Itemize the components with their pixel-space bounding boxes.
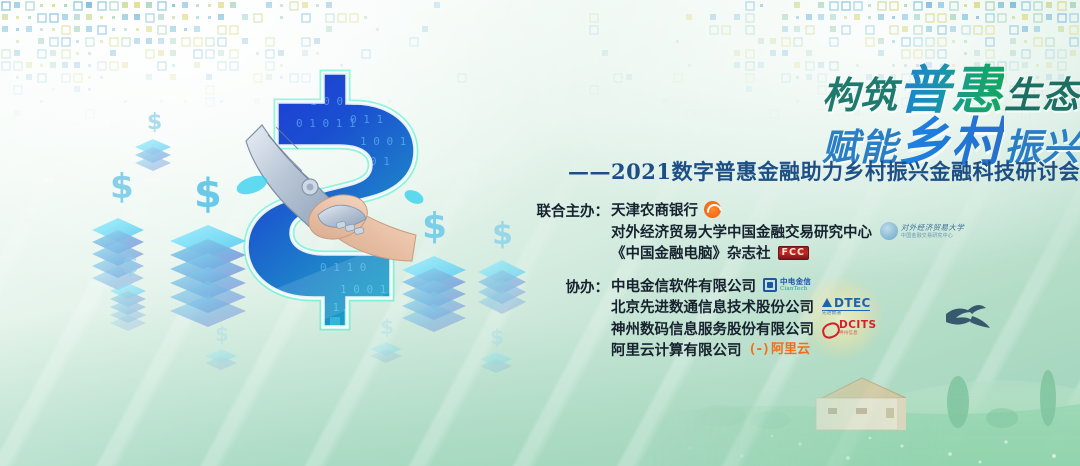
hero-graphic: $ $ $: [80, 55, 540, 420]
org-name-tianjin-bank: 天津农商银行: [611, 199, 698, 220]
org-name-dtec: 北京先进数通信息技术股份公司: [611, 296, 814, 317]
svg-text:0 1 0 1 1: 0 1 0 1 1: [296, 117, 356, 130]
credit-line: 神州数码信息服务股份有限公司 DCITS 神州信息: [611, 318, 950, 340]
fcc-logo: FCC: [778, 246, 809, 260]
dtec-triangle-icon: [822, 298, 832, 307]
svg-text:$: $: [147, 110, 162, 135]
uibe-crest-icon: [880, 222, 898, 240]
org-name-ciantech: 中电金信软件有限公司: [611, 275, 756, 296]
fcc-logo-text: FCC: [782, 248, 805, 258]
credit-line: 对外经济贸易大学中国金融交易研究中心 对外经济贸易大学 中国金融交易研究中心: [611, 221, 964, 243]
aliyun-bracket-icon: (-): [749, 343, 769, 356]
dcits-logo-text: DCITS 神州信息: [839, 320, 877, 337]
credit-line: 《中国金融电脑》杂志社 FCC: [611, 242, 964, 264]
svg-text:1 0 1 0: 1 0 1 0: [352, 317, 398, 330]
event-banner: $ $ $: [0, 0, 1080, 466]
org-name-dcits: 神州数码信息服务股份有限公司: [611, 318, 814, 339]
credit-label-coorganizers: 协办：: [530, 275, 609, 297]
dtec-logo: DTEC 先进数通: [822, 297, 871, 318]
credit-line: 北京先进数通信息技术股份公司 DTEC 先进数通: [611, 296, 950, 318]
credits-block: 联合主办： 天津农商银行 对外经济贸易大学中国金融交易研究中心 对外经济贸易大学…: [530, 199, 950, 372]
event-subtitle: ——2021数字普惠金融助力乡村振兴金融科技研讨会: [520, 156, 1080, 186]
dollar-sign-graphic: 1 0 0 10 1 1 0 1 0 1 11 0 0 1 1 1 00 1 0…: [210, 65, 460, 375]
ciantech-logo-cn: 中电金信: [780, 278, 811, 286]
credit-line: 天津农商银行: [611, 199, 964, 221]
org-name-fcc-magazine: 《中国金融电脑》杂志社: [611, 242, 771, 263]
uibe-logo-text: 对外经济贸易大学 中国金融交易研究中心: [901, 224, 964, 239]
bank-swirl-icon: [704, 201, 721, 218]
dcits-swirl-icon: [822, 322, 837, 335]
svg-text:$: $: [490, 325, 504, 349]
swallow-bird: [946, 305, 990, 328]
credit-line: 中电金信软件有限公司 中电金信 CianTech: [611, 275, 950, 297]
dcits-logo: DCITS 神州信息: [822, 320, 877, 337]
dtec-logo-sub: 先进数通: [822, 311, 841, 317]
svg-text:$: $: [110, 167, 134, 207]
uibe-logo: 对外经济贸易大学 中国金融交易研究中心: [880, 222, 964, 240]
aliyun-logo: (-) 阿里云: [749, 343, 811, 357]
dtec-logo-text: DTEC: [834, 297, 871, 309]
org-name-aliyun: 阿里云计算有限公司: [611, 339, 742, 360]
org-name-uibe-center: 对外经济贸易大学中国金融交易研究中心: [611, 221, 872, 242]
svg-text:1 0 0 1: 1 0 0 1: [360, 135, 406, 148]
ciantech-square-icon: [763, 278, 777, 292]
dollar-svg: 1 0 0 10 1 1 0 1 0 1 11 0 0 1 1 1 00 1 0…: [210, 65, 460, 375]
ciantech-logo: 中电金信 CianTech: [763, 278, 811, 292]
credit-lines-coorganizers: 中电金信软件有限公司 中电金信 CianTech 北京先进数通信息技术股份公司: [609, 275, 950, 361]
credit-lines-hosts: 天津农商银行 对外经济贸易大学中国金融交易研究中心 对外经济贸易大学 中国金融交…: [609, 199, 964, 264]
dcits-logo-name: DCITS: [839, 320, 877, 331]
dtec-logo-row: DTEC: [822, 297, 871, 309]
aliyun-logo-text: 阿里云: [771, 343, 810, 357]
svg-text:0 1: 0 1: [370, 155, 390, 168]
svg-text:$: $: [492, 217, 513, 252]
uibe-logo-line1: 对外经济贸易大学: [901, 224, 964, 233]
credit-label-hosts: 联合主办：: [530, 199, 609, 221]
svg-text:0 0 1 1: 0 0 1 1: [318, 333, 364, 346]
credit-group-coorganizers: 协办： 中电金信软件有限公司 中电金信 CianTech 北京先进数通信息技术股…: [530, 275, 950, 361]
uibe-logo-line2: 中国金融交易研究中心: [901, 233, 964, 239]
credit-group-hosts: 联合主办： 天津农商银行 对外经济贸易大学中国金融交易研究中心 对外经济贸易大学…: [530, 199, 950, 264]
ciantech-logo-en: CianTech: [780, 286, 811, 292]
dcits-logo-sub: 神州信息: [839, 331, 877, 337]
ciantech-logo-text: 中电金信 CianTech: [780, 278, 811, 292]
title-block: 构筑普惠生态 赋能乡村振兴 ——2021数字普惠金融助力乡村振兴金融科技研讨会: [520, 48, 1080, 188]
svg-text:$: $: [122, 251, 139, 279]
tianjin-rural-commercial-bank-logo: [704, 201, 721, 218]
credit-line: 阿里云计算有限公司 (-) 阿里云: [611, 339, 950, 361]
